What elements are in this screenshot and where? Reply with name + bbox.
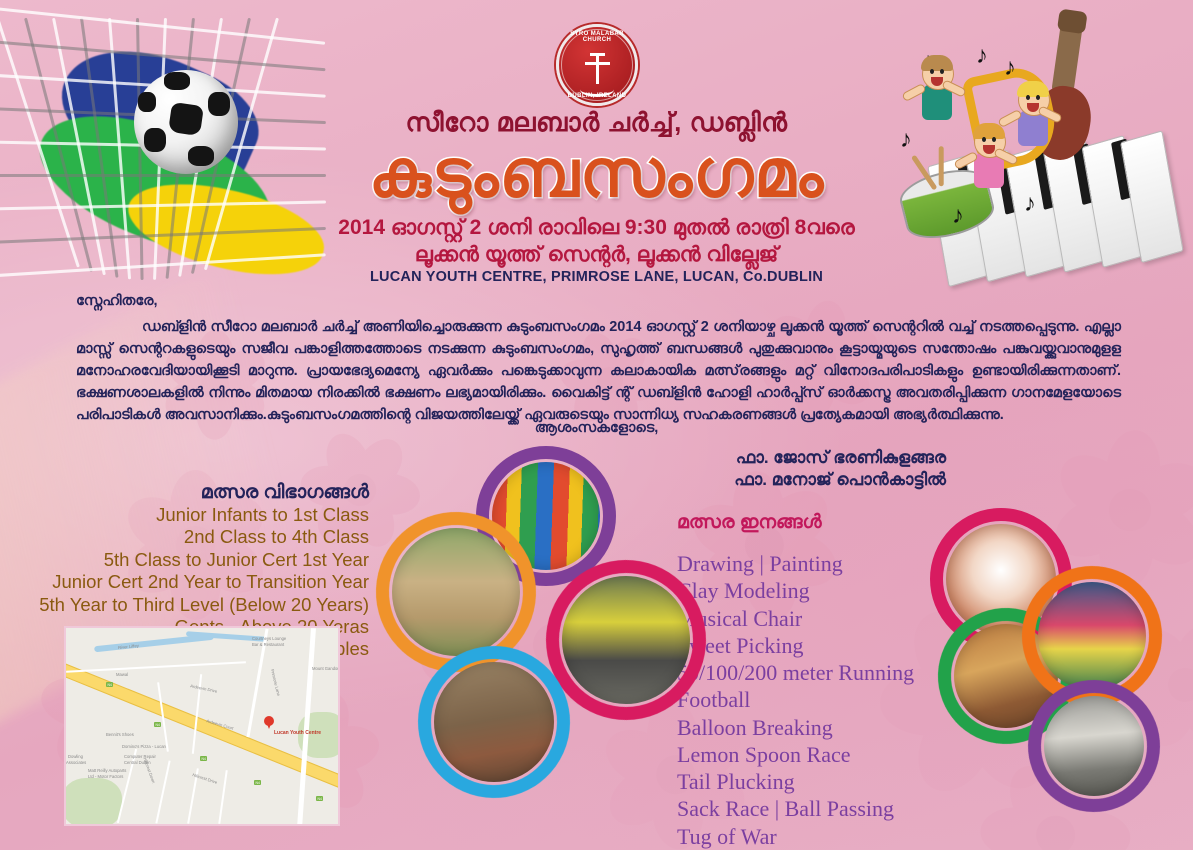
page-title: കുടുംബസംഗമം	[0, 140, 1193, 206]
letter-regards: ആശംസകളോടെ,	[0, 420, 1193, 436]
cross-emblem-icon	[596, 54, 599, 84]
event-item: Tug of War	[677, 823, 914, 850]
event-item: Football	[677, 686, 914, 713]
event-item: Drawing | Painting	[677, 550, 914, 577]
event-item: 50/100/200 meter Running	[677, 659, 914, 686]
logo-top-text: SYRO MALABAR CHURCH	[556, 31, 638, 43]
letter-body-text: ഡബ്ളിൻ സീറോ മലബാർ ചർച്ച് അണിയിച്ചൊരുക്കു…	[76, 319, 1121, 423]
signatory-one: ഫാ. ജോസ് ഭരണികുളങ്ങര	[736, 448, 946, 468]
clay-modeling-photo	[418, 646, 570, 798]
event-date-time: 2014 ഓഗസ്റ്റ് 2 ശനി രാവിലെ 9:30 മുതൽ രാത…	[0, 216, 1193, 240]
letter-greeting: സ്നേഹിതരേ,	[76, 293, 158, 309]
venue-malayalam: ലൂക്കൻ യൂത്ത് സെന്റർ, ലൂക്കൻ വില്ലേജ്	[0, 243, 1193, 267]
event-item: Musical Chair	[677, 605, 914, 632]
events-heading: മത്സര ഇനങ്ങൾ	[677, 512, 822, 534]
category-item: 5th Class to Junior Cert 1st Year	[39, 549, 369, 571]
poster-canvas: ♪♪♪♪♪♪ SYRO MALABAR CHURCH DUBLIN, IRELA…	[0, 0, 1193, 850]
music-note-icon: ♪	[976, 42, 988, 70]
category-item: Junior Cert 2nd Year to Transition Year	[39, 571, 369, 593]
categories-heading: മത്സര വിഭാഗങ്ങൾ	[201, 482, 369, 504]
footer-bar: f /syromalabarchurch.dublin 0899741568 /…	[0, 784, 1193, 818]
signatory-two: ഫാ. മനോജ് പൊൻകാട്ടിൽ	[734, 470, 946, 490]
photo-image	[434, 662, 554, 782]
photo-image	[1044, 696, 1144, 796]
photo-image	[392, 528, 520, 656]
venue-english: LUCAN YOUTH CENTRE, PRIMROSE LANE, LUCAN…	[0, 269, 1193, 285]
church-logo: SYRO MALABAR CHURCH DUBLIN, IRELAND	[556, 24, 638, 106]
photo-image	[562, 576, 690, 704]
letter-body: ഡബ്ളിൻ സീറോ മലബാർ ചർച്ച് അണിയിച്ചൊരുക്കു…	[76, 316, 1121, 426]
photo-image	[1038, 582, 1146, 690]
map-pin-label: Lucan Youth Centre	[274, 730, 321, 736]
church-name-malayalam: സീറോ മലബാർ ചർച്ച്, ഡബ്ലിൻ	[0, 107, 1193, 139]
event-item: Lemon Spoon Race	[677, 741, 914, 768]
category-item: Junior Infants to 1st Class	[39, 504, 369, 526]
category-item: 2nd Class to 4th Class	[39, 526, 369, 548]
ball-game-photo	[546, 560, 706, 720]
event-item: Balloon Breaking	[677, 714, 914, 741]
category-item: 5th Year to Third Level (Below 20 Years)	[39, 594, 369, 616]
music-note-icon: ♪	[1004, 54, 1016, 82]
map-pin-icon	[264, 716, 274, 729]
event-item: Sweet Picking	[677, 632, 914, 659]
event-item: Clay Modeling	[677, 577, 914, 604]
logo-leaves-icon	[580, 82, 614, 97]
